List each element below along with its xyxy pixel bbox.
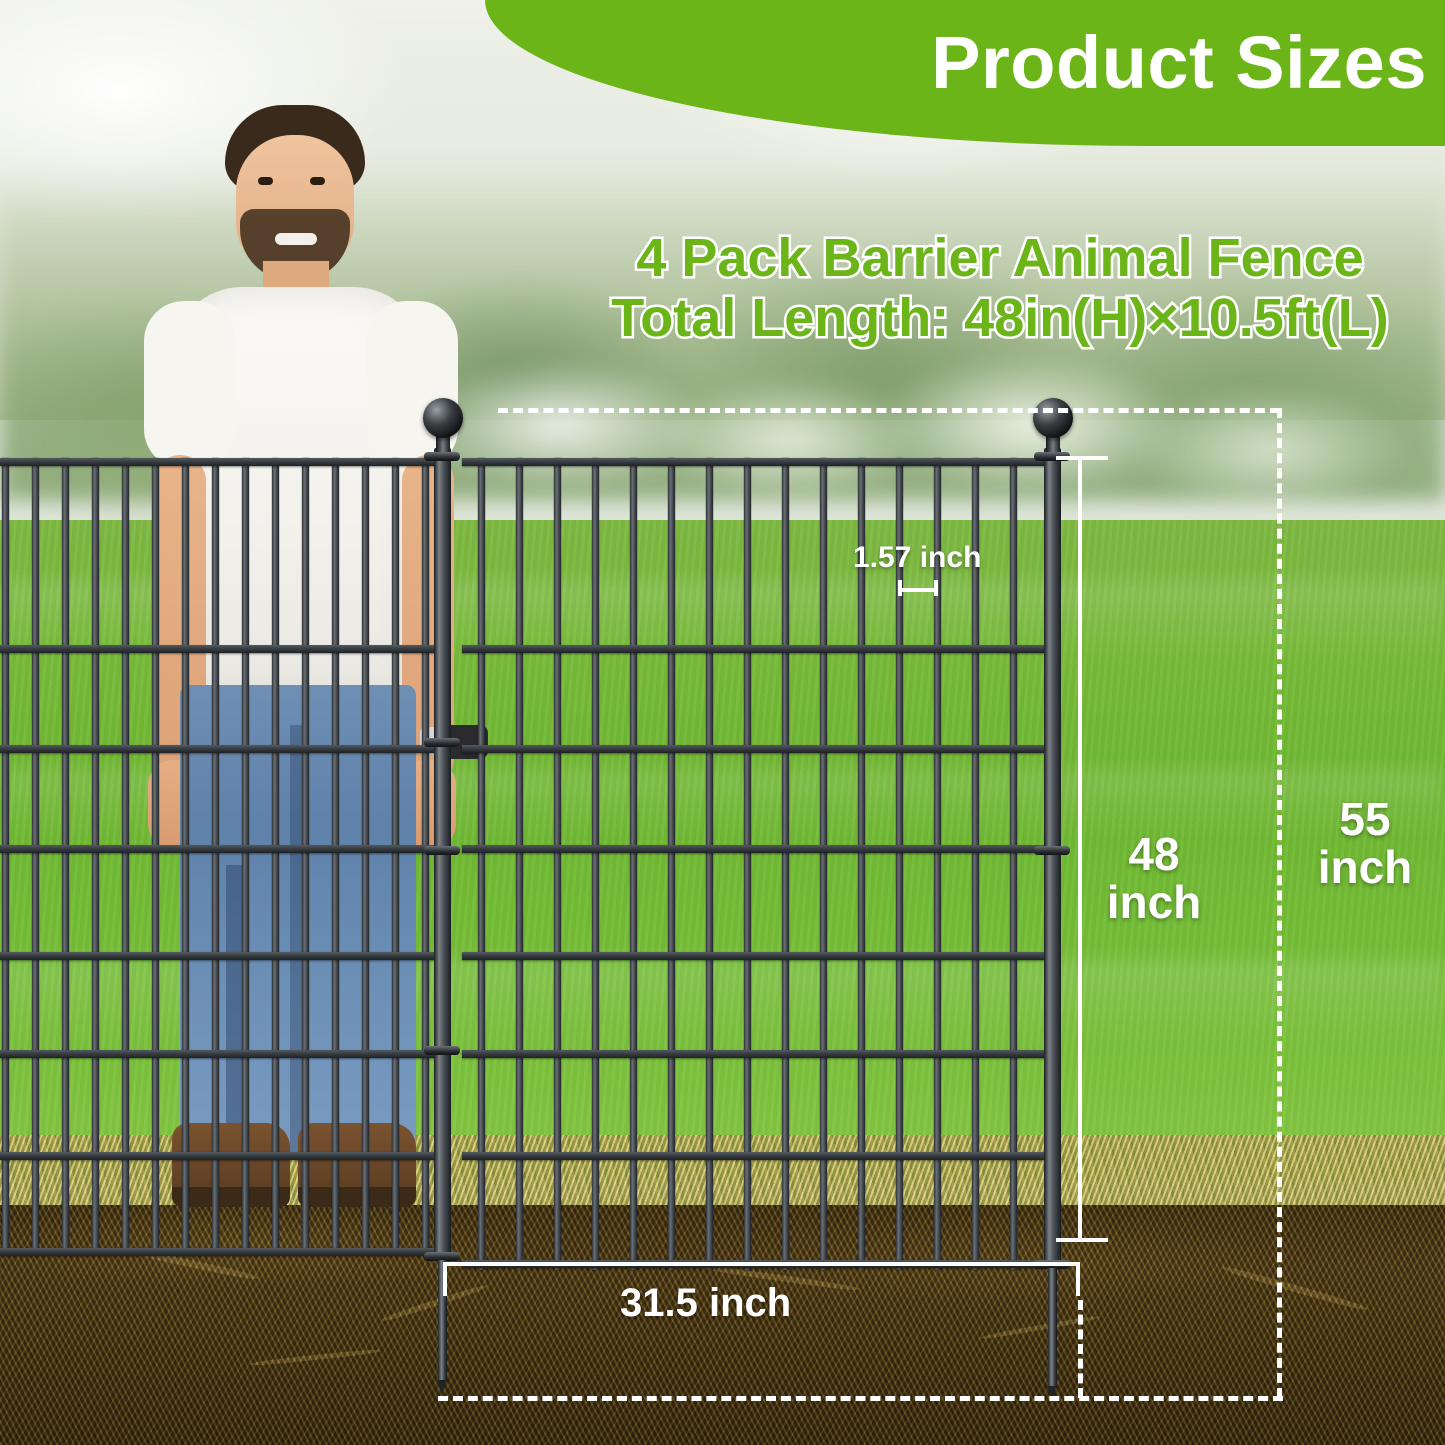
label-48-value: 48 [1094,830,1214,878]
dim-1-57-right-cap [934,580,938,596]
dim-1-57-line [898,588,938,592]
post-finial-ball-middle [423,398,463,438]
dashed-guide-top [498,408,1280,413]
label-panel-width: 31.5 inch [620,1282,791,1324]
dim-48-line [1078,456,1082,1242]
dashed-guide-bottom [438,1396,1283,1401]
headline-line-1: 4 Pack Barrier Animal Fence [560,228,1440,288]
dim-1-57-left-cap [898,580,902,596]
product-sizes-infographic: 1.57 inch 48 inch 55 inch 31.5 inch 4 Pa… [0,0,1445,1445]
banner-title: Product Sizes [931,26,1427,100]
label-total-height: 55 inch [1300,795,1430,892]
dim-31-5-line [443,1262,1080,1266]
dashed-guide-right-vertical [1277,408,1282,1398]
label-above-ground-height: 48 inch [1094,830,1214,927]
label-bar-gap: 1.57 inch [853,542,981,574]
label-55-value: 55 [1300,795,1430,843]
post-finial-ball-right [1033,398,1073,438]
dim-31-5-right-cap [1076,1262,1080,1296]
dim-48-top-cap [1056,456,1108,460]
dashed-guide-stake-depth [1078,1300,1083,1398]
product-headline: 4 Pack Barrier Animal Fence Total Length… [560,228,1440,349]
dim-48-bottom-cap [1056,1238,1108,1242]
label-48-unit: inch [1094,878,1214,926]
headline-line-2: Total Length: 48in(H)×10.5ft(L) [560,288,1440,348]
dim-31-5-left-cap [443,1262,447,1296]
label-55-unit: inch [1300,843,1430,891]
fence-post-right [1044,448,1061,1270]
ground-stake-right [1048,1268,1057,1388]
